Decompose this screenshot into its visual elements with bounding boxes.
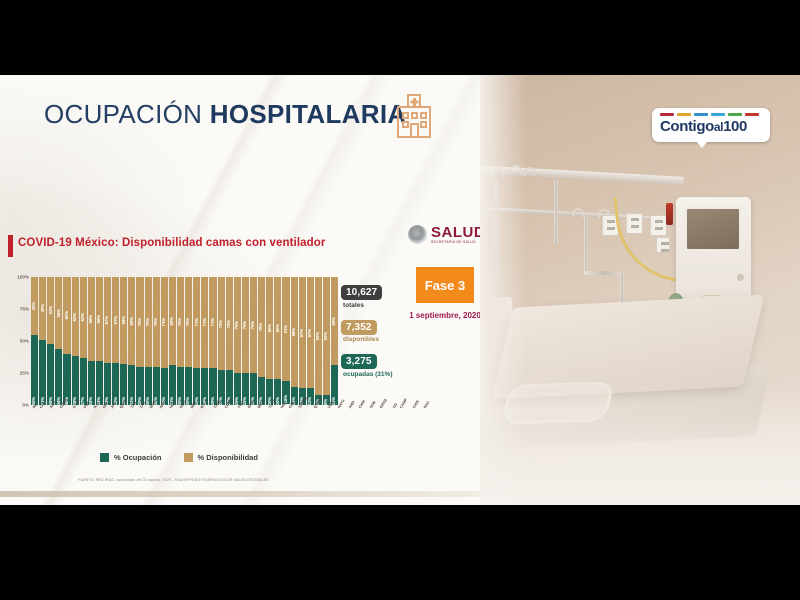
bar-segment-disponibilidad: 70% bbox=[136, 277, 143, 367]
chart-bar: 71%29% bbox=[193, 277, 200, 405]
salud-logo-subtitle: SECRETARÍA DE SALUD bbox=[431, 241, 480, 244]
chart-bar: 66%34% bbox=[88, 277, 95, 405]
bar-segment-disponibilidad: 70% bbox=[145, 277, 152, 367]
bar-value-label-disponibilidad: 70% bbox=[146, 318, 150, 326]
bar-segment-disponibilidad: 80% bbox=[274, 277, 281, 379]
bar-value-label-disponibilidad: 63% bbox=[81, 313, 85, 321]
chart-bar: 75%25% bbox=[234, 277, 241, 405]
bar-value-label-disponibilidad: 87% bbox=[300, 329, 304, 337]
contigo-al-100-logo: Contigoal100 bbox=[652, 108, 770, 142]
chart-bar: 56%44% bbox=[55, 277, 62, 405]
source-note: FUENTE: RED IRAG, acumulado del 31 agost… bbox=[78, 478, 269, 482]
bar-segment-disponibilidad: 45% bbox=[31, 277, 38, 335]
chart-bar: 70%30% bbox=[153, 277, 160, 405]
bar-value-label-disponibilidad: 70% bbox=[138, 318, 142, 326]
bar-value-label-disponibilidad: 62% bbox=[73, 313, 77, 321]
bar-segment-disponibilidad: 66% bbox=[96, 277, 103, 361]
bar-segment-ocupacion: 34% bbox=[96, 361, 103, 405]
slide-date: 1 septiembre, 2020 bbox=[408, 311, 480, 321]
legend-swatch bbox=[184, 453, 193, 462]
iv-pole-arm bbox=[584, 271, 624, 275]
bar-segment-disponibilidad: 71% bbox=[209, 277, 216, 368]
salud-logo: SALUD SECRETARÍA DE SALUD bbox=[408, 225, 480, 244]
chart-bar: 73%27% bbox=[218, 277, 225, 405]
salud-logo-name: SALUD bbox=[431, 225, 480, 240]
bar-segment-disponibilidad: 73% bbox=[218, 277, 225, 370]
bar-segment-disponibilidad: 70% bbox=[153, 277, 160, 367]
y-axis-tick: 100% bbox=[17, 275, 29, 280]
chart-bar: 87%13% bbox=[307, 277, 314, 405]
page-title-light: OCUPACIÓN bbox=[44, 99, 210, 129]
bar-value-label-disponibilidad: 69% bbox=[332, 317, 336, 325]
bar-segment-disponibilidad: 71% bbox=[193, 277, 200, 368]
logo-word-100: 100 bbox=[723, 118, 747, 135]
chart-bar: 52%48% bbox=[47, 277, 54, 405]
chart-subtitle: COVID-19 México: Disponibilidad camas co… bbox=[18, 237, 325, 249]
y-axis-tick: 50% bbox=[20, 339, 29, 344]
total-value-pill: 10,627 bbox=[341, 285, 382, 300]
logo-dash bbox=[745, 113, 759, 116]
chart-bar: 67%33% bbox=[112, 277, 119, 405]
iv-pole-mid bbox=[554, 179, 558, 245]
bar-segment-disponibilidad: 63% bbox=[80, 277, 87, 358]
iv-pole-drop bbox=[584, 215, 588, 273]
bar-segment-disponibilidad: 86% bbox=[291, 277, 298, 387]
bar-segment-disponibilidad: 56% bbox=[55, 277, 62, 349]
stacked-bar-chart: 0%25%50%75%100% 45%55%49%51%52%48%56%44%… bbox=[8, 277, 338, 425]
chart-bar: 87%13% bbox=[299, 277, 306, 405]
bar-value-label-disponibilidad: 92% bbox=[316, 332, 320, 340]
bar-segment-ocupacion: 34% bbox=[88, 361, 95, 405]
bar-segment-disponibilidad: 87% bbox=[307, 277, 314, 388]
total-value-pill: 7,352 bbox=[341, 320, 377, 335]
hospital-icon bbox=[392, 91, 436, 139]
bar-value-label-disponibilidad: 71% bbox=[195, 318, 199, 326]
logo-word-contigo: Contigo bbox=[660, 118, 714, 135]
bar-value-label-disponibilidad: 80% bbox=[268, 324, 272, 332]
bar-value-label-disponibilidad: 75% bbox=[235, 321, 239, 329]
y-axis-tick: 75% bbox=[20, 307, 29, 312]
bar-segment-ocupacion: 29% bbox=[161, 368, 168, 405]
bar-segment-ocupacion: 29% bbox=[209, 368, 216, 405]
chart-bar: 71%29% bbox=[161, 277, 168, 405]
bar-value-label-disponibilidad: 71% bbox=[203, 318, 207, 326]
total-caption: disponibles bbox=[343, 336, 403, 344]
bar-value-label-disponibilidad: 67% bbox=[105, 316, 109, 324]
bar-segment-ocupacion: 25% bbox=[242, 373, 249, 405]
bar-segment-ocupacion: 44% bbox=[55, 349, 62, 405]
bar-segment-ocupacion: 37% bbox=[80, 358, 87, 405]
chart-bar: 62%38% bbox=[72, 277, 79, 405]
bar-segment-disponibilidad: 67% bbox=[104, 277, 111, 363]
photo-bottom-fade bbox=[480, 385, 800, 505]
bar-value-label-disponibilidad: 71% bbox=[211, 318, 215, 326]
bar-segment-disponibilidad: 78% bbox=[258, 277, 265, 377]
bar-value-label-disponibilidad: 56% bbox=[57, 309, 61, 317]
bar-value-label-disponibilidad: 68% bbox=[122, 316, 126, 324]
bar-value-label-disponibilidad: 49% bbox=[41, 304, 45, 312]
chart-bar: 75%25% bbox=[242, 277, 249, 405]
bar-value-label-disponibilidad: 60% bbox=[65, 311, 69, 319]
bar-value-label-disponibilidad: 70% bbox=[154, 318, 158, 326]
y-axis-tick: 0% bbox=[22, 403, 29, 408]
bar-value-label-disponibilidad: 66% bbox=[89, 315, 93, 323]
bar-value-label-disponibilidad: 73% bbox=[227, 320, 231, 328]
bar-segment-ocupacion: 30% bbox=[145, 367, 152, 405]
legend-label: % Ocupación bbox=[114, 453, 162, 462]
subtitle-accent-bar bbox=[8, 235, 13, 257]
y-axis: 0%25%50%75%100% bbox=[8, 277, 30, 405]
bar-segment-ocupacion: 31% bbox=[128, 365, 135, 405]
chart-bar: 69%31% bbox=[331, 277, 338, 405]
chart-bar: 68%32% bbox=[120, 277, 127, 405]
bar-value-label-disponibilidad: 69% bbox=[170, 317, 174, 325]
chart-bar: 75%25% bbox=[250, 277, 257, 405]
chart-plot-area: 45%55%49%51%52%48%56%44%60%40%62%38%63%3… bbox=[31, 277, 338, 405]
chart-bar: 92%8% bbox=[323, 277, 330, 405]
chart-bar: 70%30% bbox=[145, 277, 152, 405]
bar-value-label-disponibilidad: 75% bbox=[251, 321, 255, 329]
bar-value-label-disponibilidad: 75% bbox=[243, 321, 247, 329]
eagle-emblem-icon bbox=[408, 225, 427, 244]
chart-bar: 67%33% bbox=[104, 277, 111, 405]
chart-bar: 80%20% bbox=[274, 277, 281, 405]
chart-bar: 69%31% bbox=[169, 277, 176, 405]
bar-value-label-disponibilidad: 86% bbox=[292, 328, 296, 336]
x-axis: NLCOLAGSCDMXS.L.P.PUEN.C.SINJALQROTABZAC… bbox=[31, 407, 338, 425]
bar-value-label-disponibilidad: 87% bbox=[308, 329, 312, 337]
presentation-slide: OCUPACIÓN HOSPITALARIA COVID-19 México: … bbox=[0, 75, 480, 505]
logo-speech-tail bbox=[696, 141, 708, 148]
bar-segment-ocupacion: 38% bbox=[72, 356, 79, 405]
chart-bar: 78%22% bbox=[258, 277, 265, 405]
bar-value-label-disponibilidad: 70% bbox=[186, 318, 190, 326]
red-valve-icon bbox=[666, 203, 673, 225]
legend-swatch bbox=[100, 453, 109, 462]
bar-segment-ocupacion: 30% bbox=[185, 367, 192, 405]
chart-bar: 86%14% bbox=[291, 277, 298, 405]
bar-value-label-disponibilidad: 81% bbox=[284, 325, 288, 333]
bar-segment-disponibilidad: 75% bbox=[234, 277, 241, 373]
logo-wordmark: Contigoal100 bbox=[660, 119, 747, 134]
bar-segment-disponibilidad: 70% bbox=[185, 277, 192, 367]
bar-segment-disponibilidad: 73% bbox=[226, 277, 233, 370]
chart-bar: 63%37% bbox=[80, 277, 87, 405]
chart-bar: 69%31% bbox=[128, 277, 135, 405]
bar-value-label-disponibilidad: 71% bbox=[162, 318, 166, 326]
bar-value-label-disponibilidad: 92% bbox=[324, 332, 328, 340]
legend-item: % Disponibilidad bbox=[184, 453, 258, 462]
chart-bar: 81%18% bbox=[282, 277, 289, 405]
bar-value-label-disponibilidad: 66% bbox=[97, 315, 101, 323]
chart-bar: 70%30% bbox=[136, 277, 143, 405]
chart-bar: 73%27% bbox=[226, 277, 233, 405]
bar-value-label-disponibilidad: 52% bbox=[49, 306, 53, 314]
bar-segment-disponibilidad: 66% bbox=[88, 277, 95, 361]
logo-color-dashes bbox=[660, 113, 759, 116]
bar-segment-disponibilidad: 92% bbox=[315, 277, 322, 395]
chart-bar: 71%29% bbox=[201, 277, 208, 405]
bar-value-label-disponibilidad: 45% bbox=[32, 302, 36, 310]
bar-value-label-disponibilidad: 80% bbox=[276, 324, 280, 332]
total-value-pill: 3,275 bbox=[341, 354, 377, 369]
chart-bar: 71%29% bbox=[209, 277, 216, 405]
chart-bar: 70%30% bbox=[185, 277, 192, 405]
bar-value-label-disponibilidad: 78% bbox=[259, 323, 263, 331]
legend-label: % Disponibilidad bbox=[198, 453, 258, 462]
logo-dash bbox=[711, 113, 725, 116]
y-axis-tick: 25% bbox=[20, 371, 29, 376]
bar-value-label-disponibilidad: 69% bbox=[130, 317, 134, 325]
chart-bar: 49%51% bbox=[39, 277, 46, 405]
chart-bar: 45%55% bbox=[31, 277, 38, 405]
bar-segment-disponibilidad: 81% bbox=[282, 277, 289, 381]
fase-badge: Fase 3 bbox=[416, 267, 474, 303]
logo-dash bbox=[660, 113, 674, 116]
slide-bottom-rule bbox=[0, 491, 480, 497]
bar-segment-ocupacion: 55% bbox=[31, 335, 38, 405]
bar-segment-disponibilidad: 70% bbox=[177, 277, 184, 367]
ventilator-knob bbox=[737, 274, 744, 281]
logo-dash bbox=[728, 113, 742, 116]
totals-callouts: 10,627totales7,352disponibles3,275ocupad… bbox=[341, 282, 403, 386]
bar-segment-disponibilidad: 80% bbox=[266, 277, 273, 379]
bar-segment-disponibilidad: 52% bbox=[47, 277, 54, 344]
bar-segment-disponibilidad: 69% bbox=[169, 277, 176, 365]
total-caption: ocupadas (31%) bbox=[343, 371, 403, 379]
bar-segment-ocupacion: 31% bbox=[331, 365, 338, 405]
total-caption: totales bbox=[343, 302, 403, 310]
ceiling-hook-4 bbox=[572, 208, 584, 217]
bar-segment-disponibilidad: 75% bbox=[242, 277, 249, 373]
bar-segment-ocupacion: 48% bbox=[47, 344, 54, 405]
bar-segment-disponibilidad: 69% bbox=[128, 277, 135, 365]
logo-word-al: al bbox=[714, 120, 723, 134]
bar-value-label-disponibilidad: 70% bbox=[178, 318, 182, 326]
bar-segment-disponibilidad: 87% bbox=[299, 277, 306, 388]
bar-value-label-disponibilidad: 67% bbox=[114, 316, 118, 324]
logo-dash bbox=[677, 113, 691, 116]
chart-bar: 80%20% bbox=[266, 277, 273, 405]
bar-segment-disponibilidad: 92% bbox=[323, 277, 330, 395]
bar-segment-disponibilidad: 75% bbox=[250, 277, 257, 373]
page-title: OCUPACIÓN HOSPITALARIA bbox=[44, 99, 406, 130]
bar-segment-disponibilidad: 71% bbox=[161, 277, 168, 368]
logo-dash bbox=[694, 113, 708, 116]
bar-segment-ocupacion: 51% bbox=[39, 340, 46, 405]
screenshot-root: OCUPACIÓN HOSPITALARIA COVID-19 México: … bbox=[0, 0, 800, 600]
chart-bar: 60%40% bbox=[63, 277, 70, 405]
chart-legend: % Ocupación% Disponibilidad bbox=[100, 453, 258, 462]
bar-value-label-disponibilidad: 73% bbox=[219, 320, 223, 328]
bar-segment-ocupacion: 33% bbox=[112, 363, 119, 405]
legend-item: % Ocupación bbox=[100, 453, 162, 462]
page-title-bold: HOSPITALARIA bbox=[210, 99, 407, 129]
bar-segment-ocupacion: 33% bbox=[104, 363, 111, 405]
chart-bar: 70%30% bbox=[177, 277, 184, 405]
ventilator-screen bbox=[685, 207, 741, 251]
bar-segment-disponibilidad: 67% bbox=[112, 277, 119, 363]
bar-segment-disponibilidad: 68% bbox=[120, 277, 127, 364]
bar-segment-disponibilidad: 60% bbox=[63, 277, 70, 354]
chart-bar: 92%8% bbox=[315, 277, 322, 405]
bar-segment-ocupacion: 18% bbox=[282, 381, 289, 404]
bar-segment-disponibilidad: 69% bbox=[331, 277, 338, 365]
bar-segment-ocupacion: 32% bbox=[120, 364, 127, 405]
bar-segment-disponibilidad: 62% bbox=[72, 277, 79, 356]
chart-bar: 66%34% bbox=[96, 277, 103, 405]
bar-segment-disponibilidad: 71% bbox=[201, 277, 208, 368]
bar-segment-disponibilidad: 49% bbox=[39, 277, 46, 340]
